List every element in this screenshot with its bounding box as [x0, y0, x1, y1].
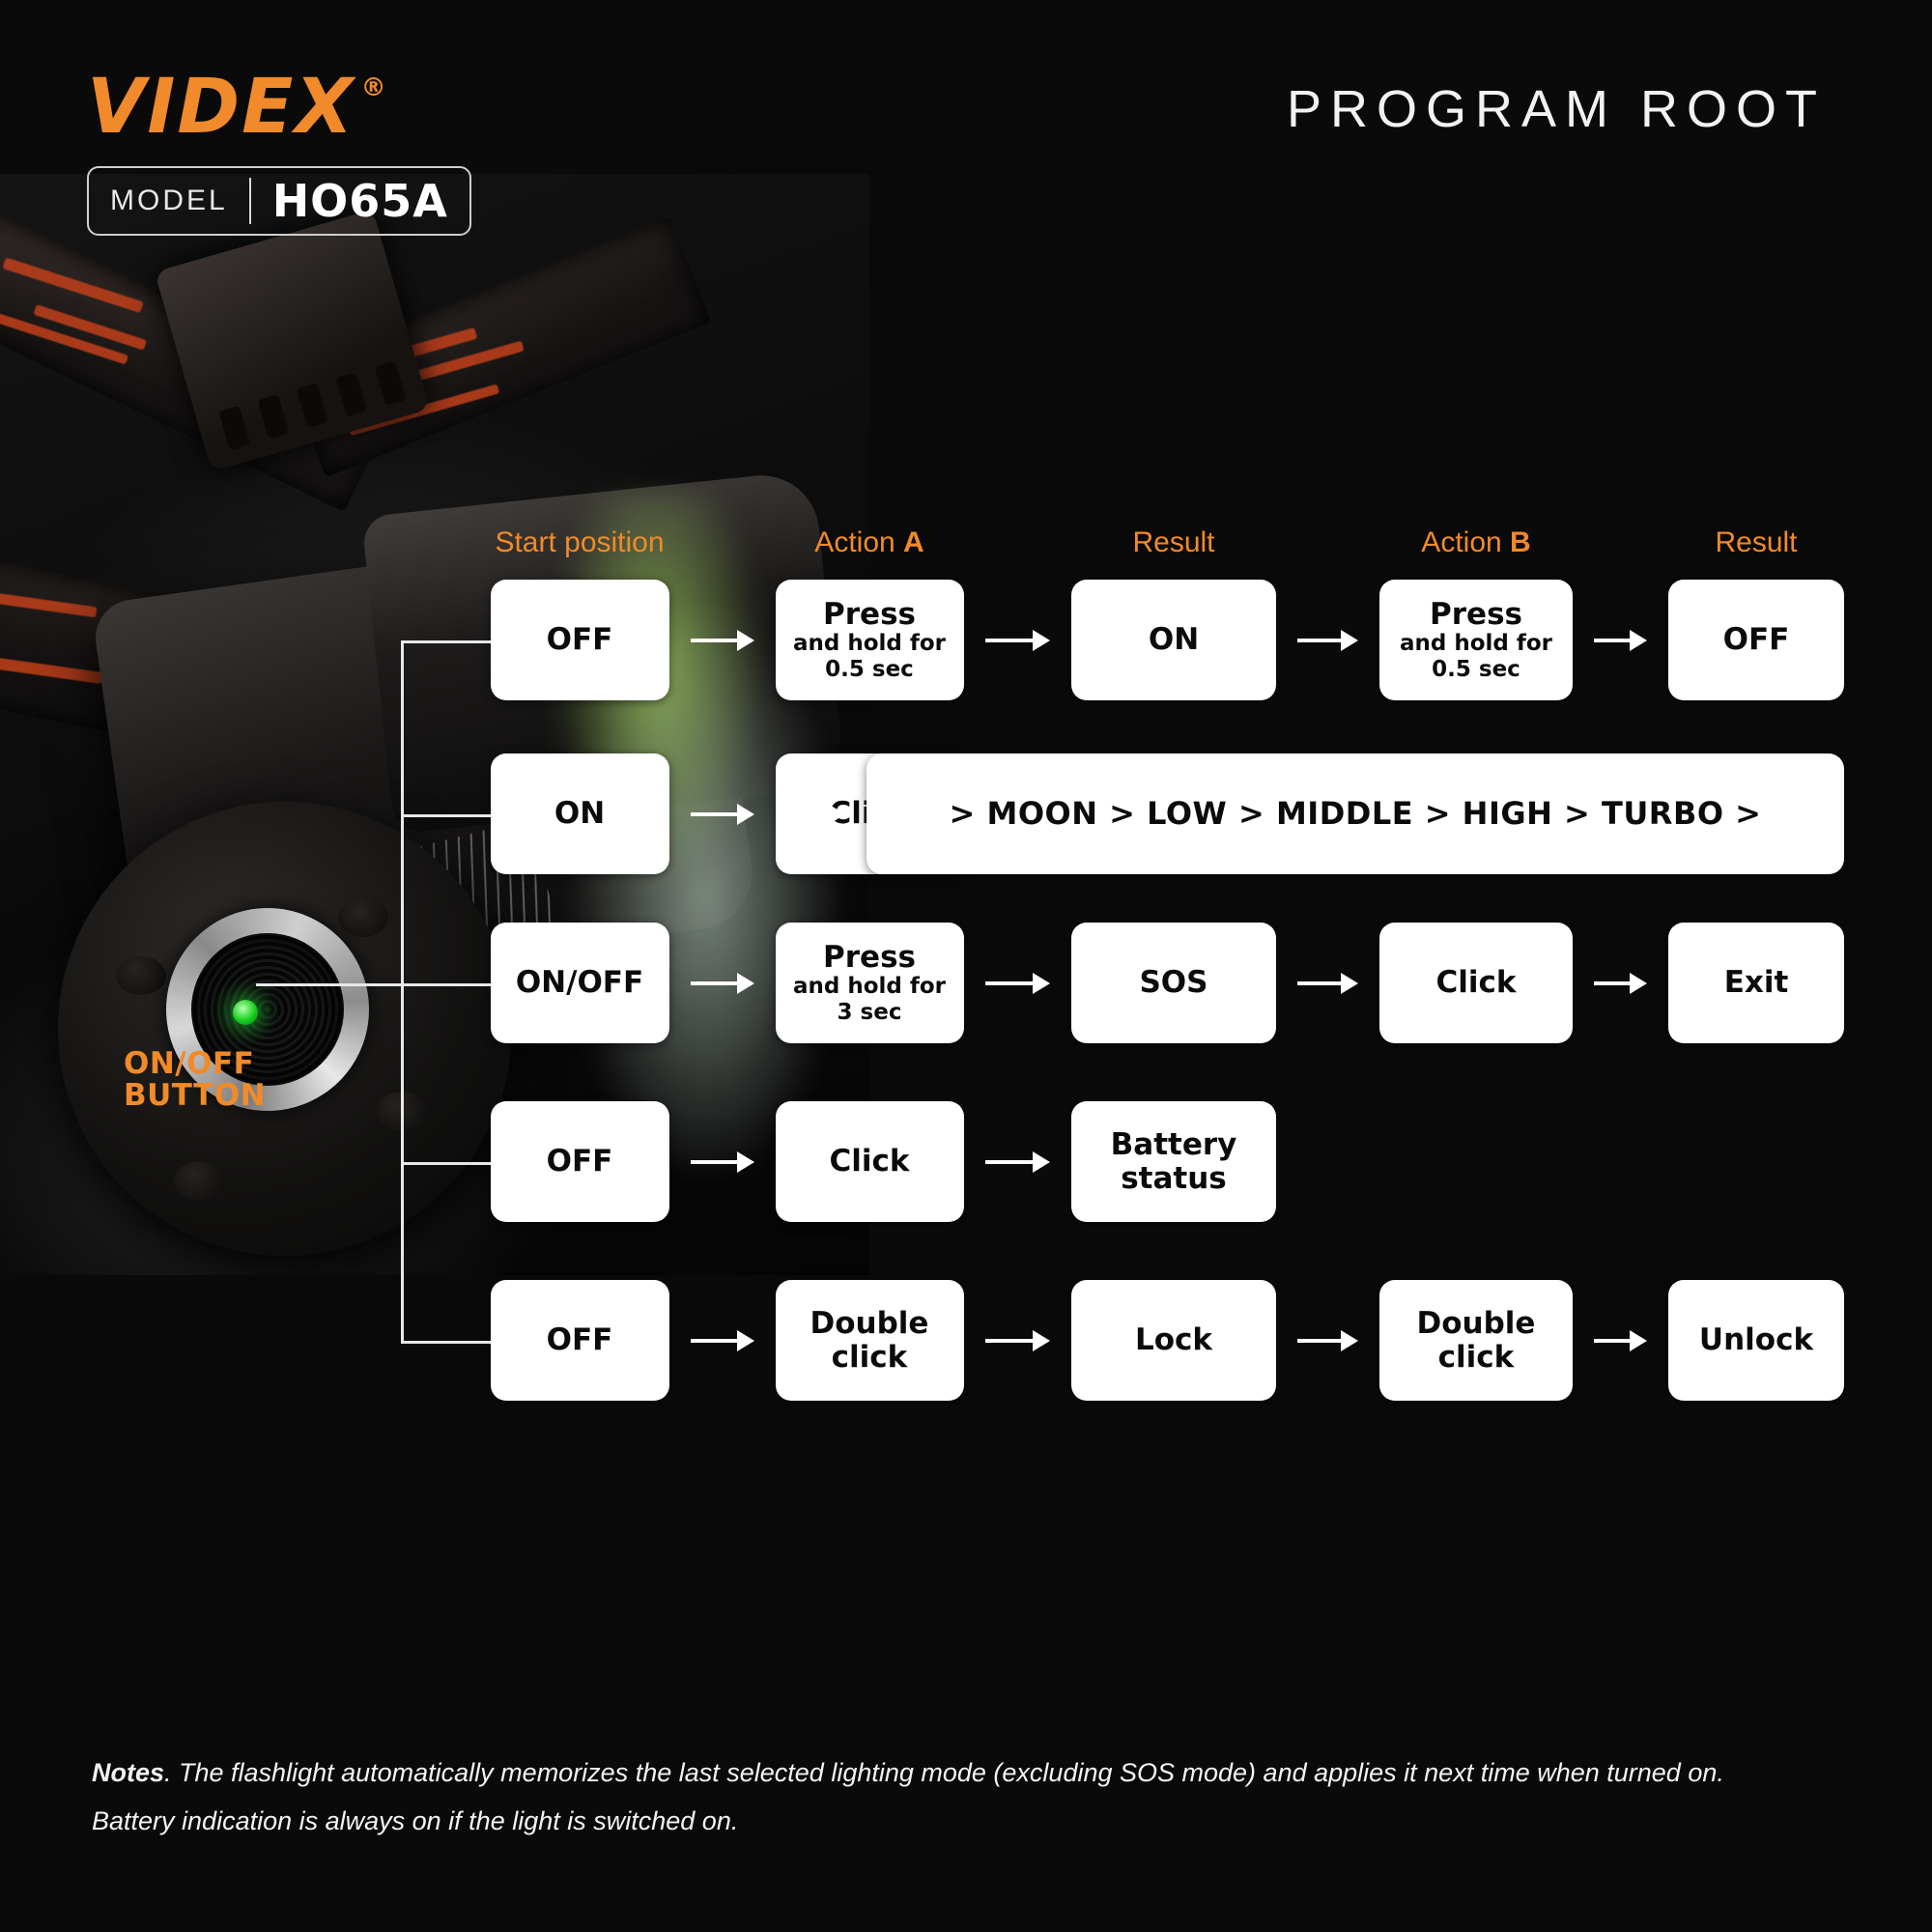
- connector-branch-row3: [401, 983, 491, 986]
- node-label: Press: [823, 941, 916, 975]
- arrow-shaft: [691, 981, 737, 985]
- connector-branch-row1: [401, 640, 491, 643]
- node-mode-sequence-row2[interactable]: > MOON > LOW > MIDDLE > HIGH > TURBO >: [867, 753, 1844, 874]
- arrow-action-b-to-result-b-row3: [1594, 973, 1647, 994]
- node-label: Lock: [1135, 1323, 1212, 1357]
- arrow-shaft: [985, 1339, 1034, 1343]
- notes-block: Notes. The flashlight automatically memo…: [92, 1753, 1869, 1842]
- node-result-a-row1[interactable]: ON: [1071, 580, 1276, 700]
- node-label: Press: [823, 598, 916, 632]
- node-start-position-row1[interactable]: OFF: [491, 580, 669, 700]
- arrow-shaft: [691, 812, 737, 816]
- arrow-shaft: [1594, 981, 1630, 985]
- node-label: OFF: [547, 1145, 613, 1179]
- node-action-a-row4[interactable]: Click: [776, 1101, 964, 1222]
- arrow-action-b-to-result-b-row1: [1594, 630, 1647, 651]
- node-label: Exit: [1724, 966, 1789, 1000]
- node-sublabel: and hold for0.5 sec: [1400, 631, 1552, 682]
- videx-logo-text: VIDEX: [87, 70, 355, 145]
- arrow-shaft: [691, 639, 737, 642]
- arrow-head-icon: [1033, 630, 1050, 651]
- registered-trademark-icon: ®: [361, 75, 388, 100]
- node-result-b-row3[interactable]: Exit: [1668, 923, 1844, 1043]
- node-result-a-row3[interactable]: SOS: [1071, 923, 1276, 1043]
- notes-label: Notes: [92, 1758, 164, 1787]
- column-header-badge: A: [903, 526, 924, 558]
- column-header-2: Action A: [814, 526, 923, 559]
- arrow-action-a-to-result-a-row5: [985, 1330, 1051, 1351]
- brand-block: VIDEX ® MODEL HO65A: [87, 70, 471, 236]
- connector-button-callout-line: [256, 983, 401, 986]
- node-label: SOS: [1139, 966, 1207, 1000]
- column-header-label: Action: [814, 526, 903, 558]
- arrow-shaft: [985, 981, 1034, 985]
- arrow-head-icon: [1630, 630, 1647, 651]
- model-value: HO65A: [251, 175, 448, 227]
- arrow-shaft: [1594, 639, 1630, 642]
- arrow-shaft: [691, 1160, 737, 1164]
- connector-branch-row5: [401, 1341, 491, 1344]
- arrow-start-to-action-a-row5: [691, 1330, 754, 1351]
- videx-logo: VIDEX ®: [87, 70, 471, 145]
- node-label: ON/OFF: [516, 966, 643, 1000]
- node-label: ON: [1149, 623, 1199, 657]
- column-header-4: Action B: [1421, 526, 1530, 559]
- arrow-head-icon: [1033, 1330, 1050, 1351]
- column-header-badge: B: [1510, 526, 1531, 558]
- column-header-label: Start position: [495, 526, 664, 558]
- node-label: OFF: [547, 623, 613, 657]
- arrow-head-icon: [828, 804, 845, 825]
- node-label: Click: [1436, 966, 1517, 1000]
- arrow-head-icon: [737, 804, 754, 825]
- arrow-result-a-to-action-b-row1: [1297, 630, 1358, 651]
- node-label: Click: [830, 1145, 910, 1179]
- arrow-head-icon: [1341, 1330, 1358, 1351]
- node-label: Doubleclick: [810, 1307, 929, 1374]
- arrow-head-icon: [1341, 630, 1358, 651]
- arrow-shaft: [985, 639, 1034, 642]
- node-result-a-row4[interactable]: Batterystatus: [1071, 1101, 1276, 1222]
- arrow-shaft: [1297, 981, 1341, 985]
- node-sublabel: and hold for0.5 sec: [793, 631, 946, 682]
- arrow-head-icon: [737, 973, 754, 994]
- notes-line-2: Battery indication is always on if the l…: [92, 1802, 1869, 1842]
- arrow-head-icon: [1341, 973, 1358, 994]
- node-action-b-row3[interactable]: Click: [1379, 923, 1573, 1043]
- program-flow-diagram: Start positionAction AResultAction BResu…: [0, 0, 1932, 1932]
- node-label: Unlock: [1699, 1323, 1813, 1357]
- arrow-head-icon: [1630, 1330, 1647, 1351]
- node-action-b-row1[interactable]: Pressand hold for0.5 sec: [1379, 580, 1573, 700]
- model-badge: MODEL HO65A: [87, 166, 471, 236]
- connector-branch-row4: [401, 1162, 491, 1165]
- arrow-start-to-action-a-row2: [691, 804, 754, 825]
- node-start-position-row5[interactable]: OFF: [491, 1280, 669, 1401]
- column-header-3: Result: [1132, 526, 1214, 559]
- column-header-label: Result: [1715, 526, 1797, 558]
- page-title: PROGRAM ROOT: [1287, 79, 1826, 139]
- node-label: Press: [1430, 598, 1522, 632]
- node-action-a-row5[interactable]: Doubleclick: [776, 1280, 964, 1401]
- arrow-shaft: [691, 1339, 737, 1343]
- node-result-a-row5[interactable]: Lock: [1071, 1280, 1276, 1401]
- arrow-action-a-to-result-a-row3: [985, 973, 1051, 994]
- arrow-result-a-to-action-b-row5: [1297, 1330, 1358, 1351]
- node-result-b-row5[interactable]: Unlock: [1668, 1280, 1844, 1401]
- arrow-head-icon: [737, 630, 754, 651]
- node-action-a-row1[interactable]: Pressand hold for0.5 sec: [776, 580, 964, 700]
- arrow-head-icon: [1033, 973, 1050, 994]
- onoff-button-callout: ON/OFF BUTTON: [124, 1048, 266, 1113]
- onoff-button-callout-line1: ON/OFF: [124, 1048, 266, 1080]
- onoff-button-callout-line2: BUTTON: [124, 1080, 266, 1112]
- page-canvas: VIDEX ® MODEL HO65A PROGRAM ROOT ON/OFF …: [0, 0, 1932, 1932]
- arrow-result-a-to-action-b-row3: [1297, 973, 1358, 994]
- node-label: OFF: [1723, 623, 1790, 657]
- connector-branch-row2: [401, 814, 491, 817]
- arrow-head-icon: [1033, 1151, 1050, 1173]
- model-label: MODEL: [110, 185, 249, 217]
- arrow-shaft: [1297, 639, 1341, 642]
- notes-line-1: . The flashlight automatically memorizes…: [164, 1758, 1724, 1787]
- arrow-start-to-action-a-row3: [691, 973, 754, 994]
- column-header-label: Result: [1132, 526, 1214, 558]
- arrow-head-icon: [737, 1330, 754, 1351]
- arrow-action-a-to-result-a-row1: [985, 630, 1051, 651]
- arrow-start-to-action-a-row1: [691, 630, 754, 651]
- node-action-b-row5[interactable]: Doubleclick: [1379, 1280, 1573, 1401]
- column-header-label: Action: [1421, 526, 1510, 558]
- arrow-shaft: [1594, 1339, 1630, 1343]
- node-result-b-row1[interactable]: OFF: [1668, 580, 1844, 700]
- arrow-head-icon: [1630, 973, 1647, 994]
- node-action-a-row3[interactable]: Pressand hold for3 sec: [776, 923, 964, 1043]
- arrow-action-b-to-result-b-row5: [1594, 1330, 1647, 1351]
- connector-spine: [401, 640, 404, 1341]
- arrow-action-a-to-result-a-row4: [985, 1151, 1051, 1173]
- node-label: > MOON > LOW > MIDDLE > HIGH > TURBO >: [950, 797, 1762, 832]
- node-label: Batterystatus: [1111, 1128, 1237, 1195]
- arrow-shaft: [1297, 1339, 1341, 1343]
- node-label: Doubleclick: [1417, 1307, 1536, 1374]
- node-sublabel: and hold for3 sec: [793, 974, 946, 1025]
- column-header-1: Start position: [495, 526, 664, 559]
- arrow-start-to-action-a-row4: [691, 1151, 754, 1173]
- node-label: OFF: [547, 1323, 613, 1357]
- column-header-5: Result: [1715, 526, 1797, 559]
- node-label: ON: [554, 797, 605, 831]
- node-start-position-row3[interactable]: ON/OFF: [491, 923, 669, 1043]
- arrow-head-icon: [737, 1151, 754, 1173]
- node-start-position-row2[interactable]: ON: [491, 753, 669, 874]
- arrow-shaft: [985, 1160, 1034, 1164]
- node-start-position-row4[interactable]: OFF: [491, 1101, 669, 1222]
